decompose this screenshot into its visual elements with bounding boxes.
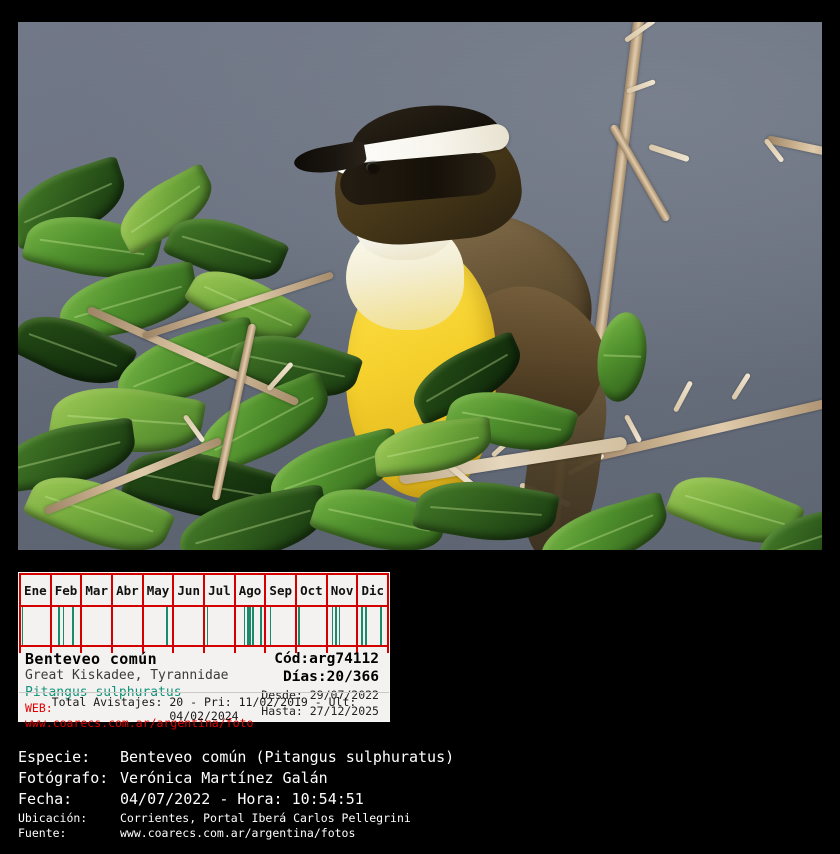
sighting-tick — [207, 607, 209, 645]
fuente-label: Fuente: — [18, 826, 120, 840]
fecha-label: Fecha: — [18, 790, 120, 808]
calendar-tick-track — [19, 607, 389, 645]
meta-row-ubicacion: Ubicación: Corrientes, Portal Iberá Carl… — [18, 811, 578, 825]
calendar-month-abr: Abr — [113, 575, 144, 605]
days-label: Días: — [283, 669, 327, 685]
calendar-month-nov: Nov — [328, 575, 359, 605]
calendar-track-feb — [52, 607, 83, 645]
sighting-tick — [166, 607, 168, 645]
code-value: arg74112 — [309, 651, 379, 667]
calendar-month-jun: Jun — [174, 575, 205, 605]
ubicacion-label: Ubicación: — [18, 811, 120, 825]
calendar-track-jun — [174, 607, 205, 645]
calendar-track-may — [144, 607, 175, 645]
code-label: Cód: — [274, 651, 309, 667]
species-info-card: EneFebMarAbrMayJunJulAgoSepOctNovDic Ben… — [18, 572, 390, 722]
photo-grain — [18, 22, 822, 550]
meta-row-fecha: Fecha: 04/07/2022 - Hora: 10:54:51 — [18, 790, 578, 808]
fecha-value: 04/07/2022 - Hora: 10:54:51 — [120, 790, 364, 808]
especie-value: Benteveo común (Pitangus sulphuratus) — [120, 748, 454, 766]
calendar-track-ene — [19, 607, 52, 645]
sighting-tick — [270, 607, 272, 645]
sighting-tick — [298, 607, 300, 645]
ubicacion-value: Corrientes, Portal Iberá Carlos Pellegri… — [120, 811, 411, 825]
sighting-tick — [252, 607, 254, 645]
calendar-month-feb: Feb — [52, 575, 83, 605]
calendar-track-mar — [82, 607, 113, 645]
calendar-month-oct: Oct — [297, 575, 328, 605]
total-sightings-text: Total Avistajes: 20 - Pri: 11/02/2019 - … — [19, 695, 389, 723]
total-sightings-bar: Total Avistajes: 20 - Pri: 11/02/2019 - … — [19, 692, 389, 723]
sighting-tick — [339, 607, 341, 645]
days-value: 20/366 — [327, 669, 379, 685]
calendar-track-jul — [205, 607, 236, 645]
meta-row-fotografo: Fotógrafo: Verónica Martínez Galán — [18, 769, 578, 787]
fotografo-value: Verónica Martínez Galán — [120, 769, 328, 787]
fotografo-label: Fotógrafo: — [18, 769, 120, 787]
bird-photograph — [18, 22, 822, 550]
meta-row-especie: Especie: Benteveo común (Pitangus sulphu… — [18, 748, 578, 766]
sighting-tick — [244, 607, 246, 645]
species-code: Cód:arg74112 — [261, 651, 379, 668]
english-name: Great Kiskadee, Tyrannidae — [25, 668, 257, 684]
fuente-value[interactable]: www.coarecs.com.ar/argentina/fotos — [120, 826, 355, 840]
calendar-track-ago — [236, 607, 267, 645]
sighting-tick — [58, 607, 60, 645]
calendar-month-may: May — [144, 575, 175, 605]
card-info: Benteveo común Great Kiskadee, Tyrannida… — [19, 647, 389, 725]
sighting-tick — [63, 607, 65, 645]
calendar-track-oct — [297, 607, 328, 645]
common-name: Benteveo común — [25, 651, 257, 668]
sighting-tick — [335, 607, 337, 645]
calendar-month-ene: Ene — [19, 575, 52, 605]
sighting-tick — [365, 607, 367, 645]
calendar-month-ago: Ago — [236, 575, 267, 605]
sighting-tick — [260, 607, 262, 645]
especie-label: Especie: — [18, 748, 120, 766]
sighting-tick — [332, 607, 334, 645]
photo-metadata: Especie: Benteveo común (Pitangus sulphu… — [18, 748, 578, 841]
sighting-tick — [72, 607, 74, 645]
meta-row-fuente: Fuente: www.coarecs.com.ar/argentina/fot… — [18, 826, 578, 840]
days-count: Días:20/366 — [261, 668, 379, 686]
sighting-tick — [22, 607, 24, 645]
calendar-track-nov — [328, 607, 359, 645]
calendar-month-dic: Dic — [358, 575, 389, 605]
calendar-track-sep — [266, 607, 297, 645]
page-root: EneFebMarAbrMayJunJulAgoSepOctNovDic Ben… — [0, 0, 840, 854]
calendar-month-jul: Jul — [205, 575, 236, 605]
sighting-tick — [249, 607, 251, 645]
sighting-tick — [361, 607, 363, 645]
calendar-month-header: EneFebMarAbrMayJunJulAgoSepOctNovDic — [19, 573, 389, 607]
calendar-track-abr — [113, 607, 144, 645]
sightings-calendar: EneFebMarAbrMayJunJulAgoSepOctNovDic — [19, 573, 389, 647]
sighting-tick — [380, 607, 382, 645]
calendar-month-mar: Mar — [82, 575, 113, 605]
calendar-month-sep: Sep — [266, 575, 297, 605]
calendar-track-dic — [358, 607, 389, 645]
